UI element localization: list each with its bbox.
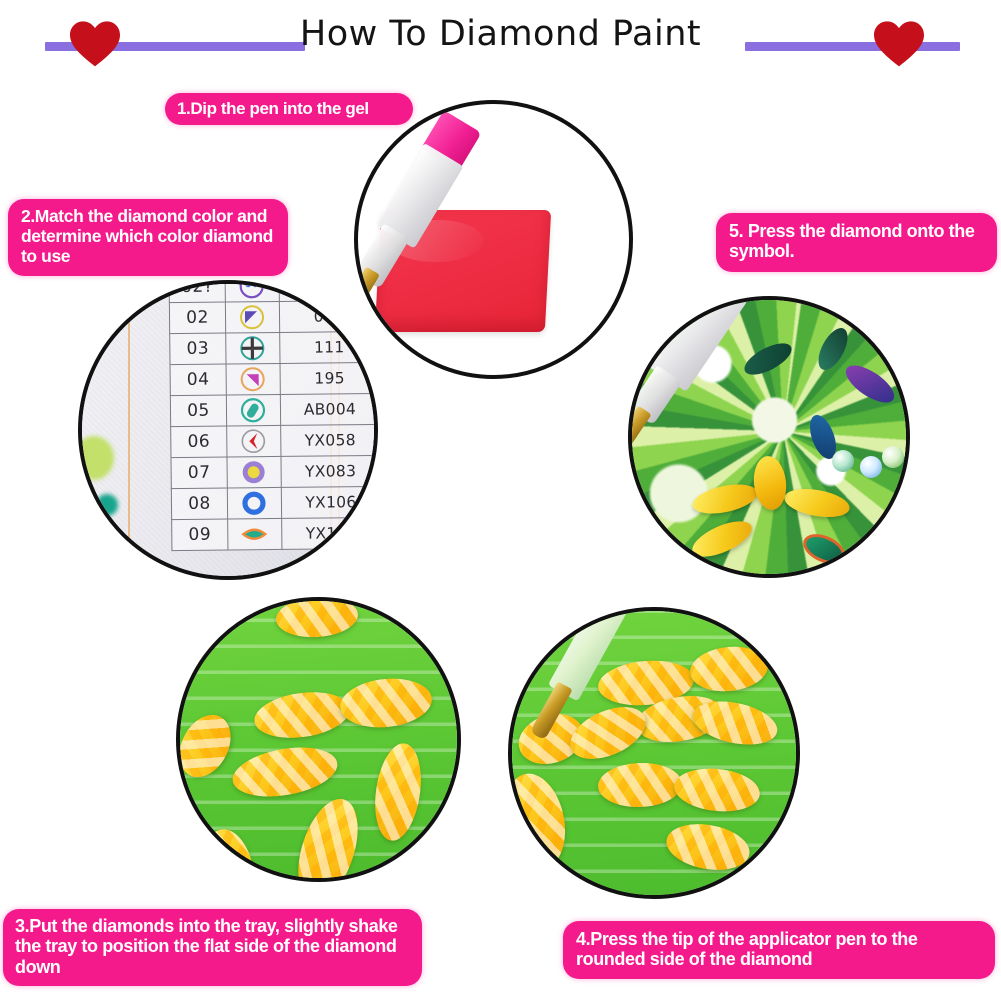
chart-number: 09 bbox=[172, 519, 228, 551]
step-4-label: 4.Press the tip of the applicator pen to… bbox=[563, 921, 995, 979]
dot-in-ring-icon bbox=[241, 459, 267, 485]
chart-symbol bbox=[226, 332, 280, 364]
photo-tray bbox=[176, 597, 461, 882]
photo-press-canvas bbox=[628, 296, 910, 578]
chart-number: 07 bbox=[171, 457, 227, 489]
chart-number: 08 bbox=[171, 488, 227, 520]
photo-pickup bbox=[508, 607, 800, 899]
chart-code: YX125 bbox=[282, 517, 378, 549]
triangle-wedge-icon bbox=[240, 366, 266, 392]
chart-code: 093 bbox=[279, 300, 378, 332]
chart-symbol bbox=[225, 280, 279, 302]
chart-number: 06 bbox=[171, 426, 227, 458]
chart-symbol bbox=[227, 456, 281, 488]
step-3-label: 3.Put the diamonds into the tray, slight… bbox=[3, 909, 422, 986]
chart-symbol bbox=[228, 518, 282, 550]
chart-code: YX058 bbox=[281, 424, 378, 456]
plus-cross-icon bbox=[240, 335, 266, 361]
chart-number: 02? bbox=[169, 280, 225, 303]
chart-code: AB004 bbox=[280, 393, 378, 425]
page-title: How To Diamond Paint bbox=[0, 14, 1001, 54]
infographic-page: How To Diamond Paint bbox=[0, 0, 1001, 1001]
chart-number: 02 bbox=[169, 302, 225, 334]
chart-symbol bbox=[226, 394, 280, 426]
chart-number: 05 bbox=[170, 395, 226, 427]
table-row: 04 195 bbox=[170, 362, 378, 395]
color-chart-table: 02? 020 02 093 bbox=[169, 280, 378, 551]
triangle-wedge-icon bbox=[239, 304, 265, 330]
chart-symbol bbox=[227, 487, 281, 519]
chart-symbol bbox=[225, 301, 279, 333]
step-2-label: 2.Match the diamond color and determine … bbox=[8, 199, 288, 276]
table-row: 06 YX058 bbox=[171, 424, 378, 457]
table-row: 03 111 bbox=[170, 331, 378, 364]
chart-number: 03 bbox=[170, 333, 226, 365]
open-ring-icon bbox=[241, 490, 267, 516]
table-row: 05 AB004 bbox=[170, 393, 378, 426]
step-5-label: 5. Press the diamond onto the symbol. bbox=[716, 213, 997, 272]
chart-symbol bbox=[227, 425, 281, 457]
double-dot-circle-icon bbox=[239, 280, 265, 299]
chart-code: 195 bbox=[280, 362, 378, 394]
table-row: 09 YX125 bbox=[172, 517, 378, 550]
chart-code: YX083 bbox=[281, 455, 378, 487]
chart-code: YX106 bbox=[281, 486, 378, 518]
table-row: 02? 020 bbox=[169, 280, 378, 303]
table-row: 08 YX106 bbox=[171, 486, 378, 519]
table-row: 02 093 bbox=[169, 300, 378, 333]
tilted-capsule-icon bbox=[240, 397, 266, 423]
chart-number: 04 bbox=[170, 364, 226, 396]
leaf-eye-icon bbox=[242, 521, 268, 547]
chart-code: 111 bbox=[280, 331, 378, 363]
photo-color-chart: 02? 020 02 093 bbox=[78, 280, 378, 580]
photo-pen-gel bbox=[354, 100, 633, 379]
step-1-label: 1.Dip the pen into the gel bbox=[165, 93, 413, 125]
table-row: 07 YX083 bbox=[171, 455, 378, 488]
chart-symbol bbox=[226, 363, 280, 395]
chevron-left-icon bbox=[241, 428, 267, 454]
chart-code: 020 bbox=[279, 280, 378, 301]
color-chart-body: 02? 020 02 093 bbox=[169, 280, 378, 551]
